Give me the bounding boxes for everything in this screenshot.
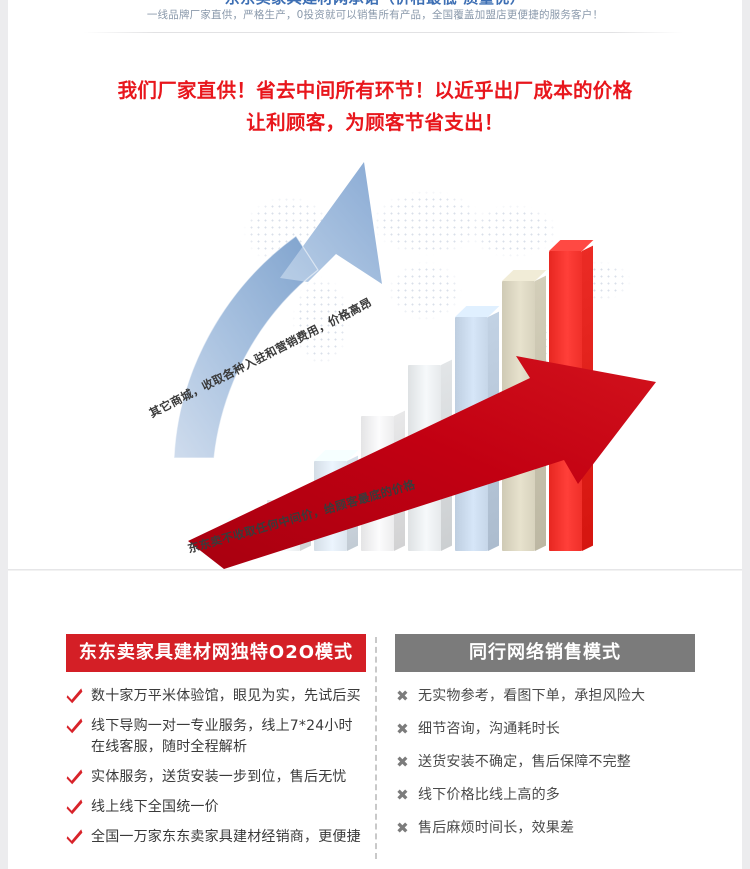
check-icon [66, 798, 83, 819]
list-item-label: 实体服务，送货安装一步到位，售后无忧 [91, 767, 347, 788]
check-icon [66, 687, 83, 708]
headline-line-1: 我们厂家直供！省去中间所有环节！以近乎出厂成本的价格 [118, 79, 633, 102]
peers-banner: 同行网络销售模式 [395, 634, 695, 672]
list-item-label: 数十家万平米体验馆，眼见为实，先试后买 [91, 686, 361, 707]
intro-block: 东东卖家具建材网承诺（价格最低·质量优） 一线品牌厂家直供，严格生产，0投资就可… [8, 0, 742, 23]
page-left-rail [0, 0, 8, 869]
list-item: 线上线下全国统一价 [66, 797, 366, 818]
list-item: 实体服务，送货安装一步到位，售后无忧 [66, 767, 366, 788]
list-item-label: 无实物参考，看图下单，承担风险大 [418, 686, 645, 707]
promo-hero-card: 东东卖家具建材网承诺（价格最低·质量优） 一线品牌厂家直供，严格生产，0投资就可… [8, 0, 742, 570]
peers-drawback-list: ✖无实物参考，看图下单，承担风险大✖细节咨询，沟通耗时长✖送货安装不确定，售后保… [395, 672, 695, 839]
list-item-label: 线下价格比线上高的多 [418, 785, 560, 806]
list-item-label: 线下导购一对一专业服务，线上7*24小时在线客服，随时全程解析 [91, 716, 366, 758]
ours-advantage-list: 数十家万平米体验馆，眼见为实，先试后买线下导购一对一专业服务，线上7*24小时在… [66, 672, 366, 848]
list-item: ✖送货安装不确定，售后保障不完整 [395, 752, 695, 773]
intro-line-1: 东东卖家具建材网承诺（价格最低·质量优） [8, 0, 742, 7]
comparison-section: 东东卖家具建材网独特O2O模式 数十家万平米体验馆，眼见为实，先试后买线下导购一… [8, 571, 742, 869]
red-up-arrow-icon [186, 356, 656, 571]
page-title: 我们厂家直供！省去中间所有环节！以近乎出厂成本的价格 让利顾客，为顾客节省支出！ [8, 75, 742, 139]
check-icon [66, 828, 83, 849]
page-right-rail [742, 0, 750, 869]
comparison-column-ours: 东东卖家具建材网独特O2O模式 数十家万平米体验馆，眼见为实，先试后买线下导购一… [66, 571, 366, 857]
list-item-label: 线上线下全国统一价 [91, 797, 219, 818]
cross-icon: ✖ [395, 686, 410, 707]
check-icon [66, 768, 83, 789]
list-item: 全国一万家东东卖家具建材经销商，更便捷 [66, 827, 366, 848]
list-item-label: 细节咨询，沟通耗时长 [418, 719, 560, 740]
growth-bar-chart: 其它商城，收取各种入驻和营销费用，价格高昂 东东卖不收取任何中间价，给顾客最底的… [158, 156, 678, 576]
list-item: 数十家万平米体验馆，眼见为实，先试后买 [66, 686, 366, 707]
headline-line-2: 让利顾客，为顾客节省支出！ [8, 107, 742, 139]
list-item: ✖无实物参考，看图下单，承担风险大 [395, 686, 695, 707]
intro-line-2: 一线品牌厂家直供，严格生产，0投资就可以销售所有产品，全国覆盖加盟店更便捷的服务… [8, 8, 742, 23]
list-item: 线下导购一对一专业服务，线上7*24小时在线客服，随时全程解析 [66, 716, 366, 758]
list-item-label: 送货安装不确定，售后保障不完整 [418, 752, 631, 773]
list-item-label: 全国一万家东东卖家具建材经销商，更便捷 [91, 827, 361, 848]
cross-icon: ✖ [395, 719, 410, 740]
list-item: ✖细节咨询，沟通耗时长 [395, 719, 695, 740]
check-icon [66, 717, 83, 738]
cross-icon: ✖ [395, 785, 410, 806]
column-divider [375, 637, 377, 859]
list-item-label: 售后麻烦时间长，效果差 [418, 818, 574, 839]
comparison-column-peers: 同行网络销售模式 ✖无实物参考，看图下单，承担风险大✖细节咨询，沟通耗时长✖送货… [395, 571, 695, 851]
top-divider [83, 32, 683, 33]
ours-banner: 东东卖家具建材网独特O2O模式 [66, 634, 366, 672]
cross-icon: ✖ [395, 818, 410, 839]
cross-icon: ✖ [395, 752, 410, 773]
list-item: ✖线下价格比线上高的多 [395, 785, 695, 806]
page-root: 东东卖家具建材网承诺（价格最低·质量优） 一线品牌厂家直供，严格生产，0投资就可… [0, 0, 750, 869]
list-item: ✖售后麻烦时间长，效果差 [395, 818, 695, 839]
